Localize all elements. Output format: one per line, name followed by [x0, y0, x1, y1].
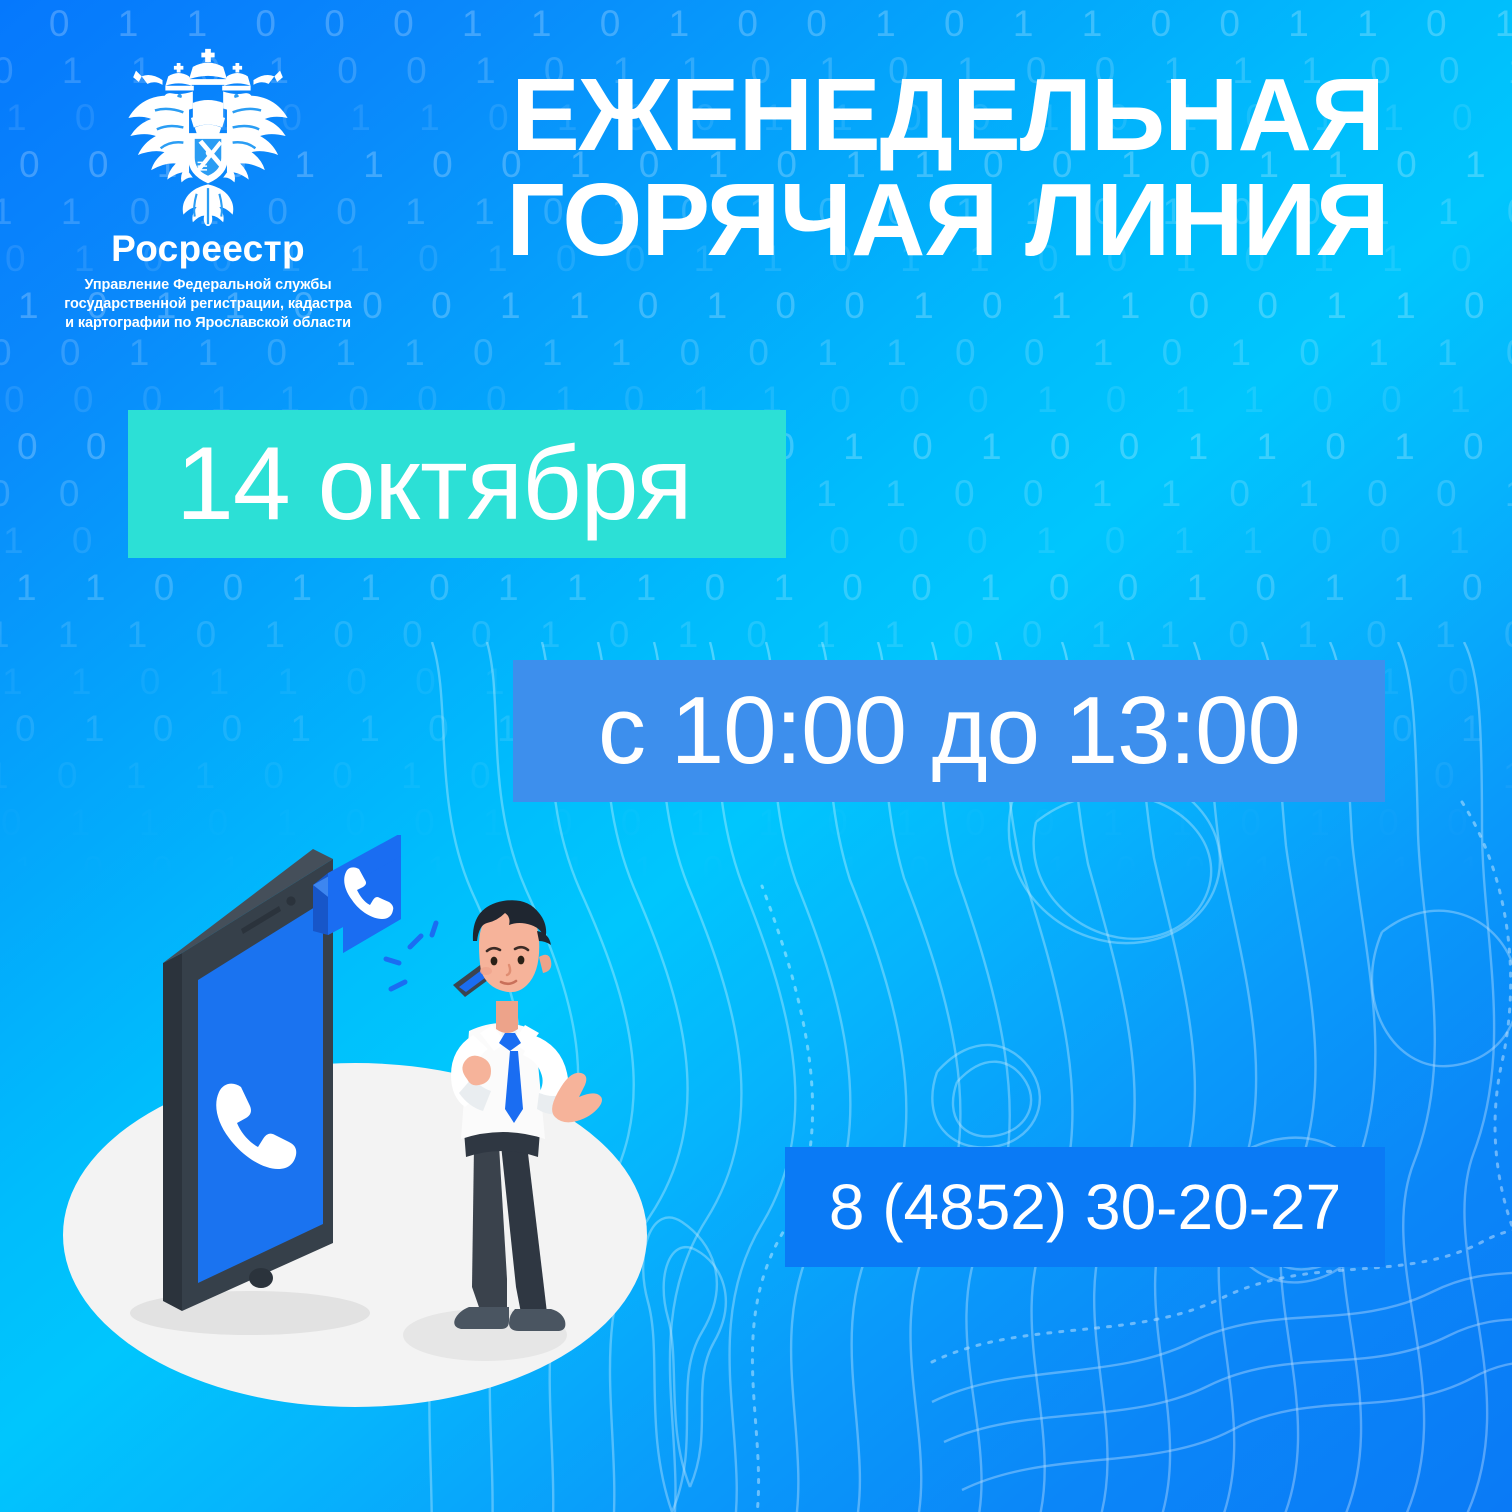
binary-row: 1 1 0 0 1 1 0 1 1 1 0 1 0 0 1 0 0 1 0 1 … [16, 564, 1512, 611]
logo-subtitle-line-1: Управление Федеральной службы [58, 276, 358, 295]
logo-subtitle-line-2: государственной регистрации, кадастра [58, 295, 358, 314]
illustration-svg [55, 835, 735, 1435]
time-badge-label: с 10:00 до 13:00 [598, 676, 1300, 786]
giant-smartphone [163, 849, 333, 1311]
headline-line-2: ГОРЯЧАЯ ЛИНИЯ [405, 167, 1490, 272]
ringing-lines-icon [386, 923, 436, 989]
binary-row: 1 0 1 1 0 0 0 1 1 0 1 0 0 1 0 1 1 0 0 1 … [0, 0, 1512, 47]
time-badge: с 10:00 до 13:00 [513, 660, 1385, 802]
phone-badge-label: 8 (4852) 30-20-27 [829, 1170, 1341, 1244]
binary-row: 0 0 1 1 0 1 1 0 1 1 0 0 1 1 0 0 1 0 1 0 … [0, 329, 1512, 376]
hotline-illustration [55, 835, 735, 1435]
headline-line-1: ЕЖЕНЕДЕЛЬНАЯ [511, 57, 1384, 172]
logo-organization-name: Росреестр [58, 230, 358, 269]
logo-subtitle-line-3: и картографии по Ярославской области [58, 314, 358, 333]
date-badge-label: 14 октября [176, 425, 692, 544]
page-title: ЕЖЕНЕДЕЛЬНАЯ ГОРЯЧАЯ ЛИНИЯ [405, 62, 1490, 272]
phone-badge: 8 (4852) 30-20-27 [785, 1147, 1385, 1267]
rosreestr-logo-block: Росреестр Управление Федеральной службы … [58, 46, 358, 333]
poster-canvas: 1 0 1 1 0 0 0 1 1 0 1 0 0 1 0 1 1 0 0 1 … [0, 0, 1512, 1512]
date-badge: 14 октября [128, 410, 786, 558]
binary-row: 1 1 1 0 1 0 0 0 1 0 1 0 1 1 0 0 1 1 0 1 … [0, 611, 1512, 658]
logo-subtitle: Управление Федеральной службы государств… [58, 276, 358, 333]
russian-double-headed-eagle-emblem [113, 46, 303, 226]
